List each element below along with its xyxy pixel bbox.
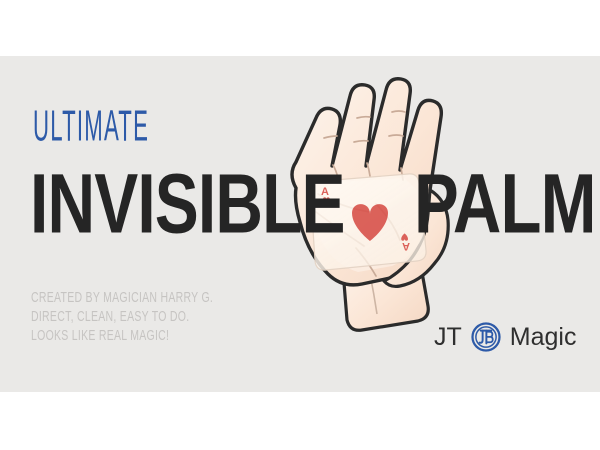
svg-text:A: A <box>402 240 410 252</box>
jt-monogram-circle-icon <box>471 322 501 352</box>
brand-name-magic: Magic <box>510 325 577 350</box>
brand-lockup: JT Magic <box>434 322 576 352</box>
title-invisible: INVISIBLE <box>30 161 345 245</box>
poster-background: A A ULTIMATE INVISIBLE PALM CREATED BY M… <box>0 56 600 392</box>
brand-name-jt: JT <box>434 325 462 350</box>
tagline-line-1: CREATED BY MAGICIAN HARRY G. <box>31 288 213 307</box>
tagline-line-2: DIRECT, CLEAN, EASY TO DO. <box>31 307 213 326</box>
title-palm: PALM <box>414 161 596 245</box>
tagline-block: CREATED BY MAGICIAN HARRY G. DIRECT, CLE… <box>31 288 213 345</box>
kicker-ultimate: ULTIMATE <box>33 104 149 148</box>
poster-canvas: A A ULTIMATE INVISIBLE PALM CREATED BY M… <box>0 0 600 450</box>
tagline-line-3: LOOKS LIKE REAL MAGIC! <box>31 326 213 345</box>
